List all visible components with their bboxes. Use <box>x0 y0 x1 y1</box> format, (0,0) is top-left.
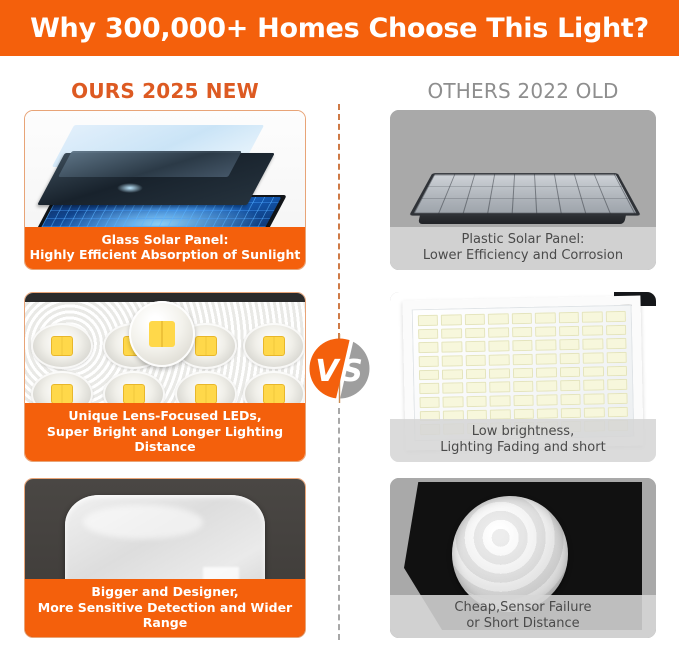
caption-line-2: Super Bright and Longer Lighting Distanc… <box>29 424 301 455</box>
caption-line-2: Lighting Fading and short <box>394 440 652 456</box>
cell-sheen-icon <box>58 151 242 177</box>
page-title: Why 300,000+ Homes Choose This Light? <box>30 13 649 44</box>
card-ours-motion-sensor: Bigger and Designer, More Sensitive Dete… <box>24 478 306 638</box>
caption-line-2: Lower Efficiency and Corrosion <box>394 248 652 264</box>
caption-others-solar-panel: Plastic Solar Panel: Lower Efficiency an… <box>390 227 656 271</box>
caption-others-motion-sensor: Cheap,Sensor Failure or Short Distance <box>390 595 656 639</box>
header-bar: Why 300,000+ Homes Choose This Light? <box>0 0 679 56</box>
caption-line-1: Plastic Solar Panel: <box>394 232 652 248</box>
panel-surface-icon <box>409 173 641 215</box>
vs-badge-icon: V S <box>305 334 374 403</box>
caption-line-1: Glass Solar Panel: <box>29 232 301 248</box>
caption-line-1: Unique Lens-Focused LEDs, <box>29 408 301 424</box>
divider-line-top <box>338 104 342 339</box>
divider-line-bottom <box>338 408 342 640</box>
card-others-solar-panel: Plastic Solar Panel: Lower Efficiency an… <box>390 110 656 270</box>
card-others-led-array: Low brightness, Lighting Fading and shor… <box>390 292 656 462</box>
caption-line-2: Highly Efficient Absorption of Sunlight <box>29 247 301 263</box>
smd-led-grid-icon <box>418 311 628 435</box>
column-header-others: OTHERS 2022 OLD <box>390 78 656 104</box>
badge-letter-v: V <box>315 354 341 389</box>
lens-highlight-icon <box>83 505 203 539</box>
focused-lens-dome-icon <box>129 301 195 367</box>
led-lens-icon <box>243 323 305 369</box>
card-ours-solar-panel: Glass Solar Panel: Highly Efficient Abso… <box>24 110 306 270</box>
card-ours-led-array: Unique Lens-Focused LEDs, Super Bright a… <box>24 292 306 462</box>
caption-line-1: Low brightness, <box>394 424 652 440</box>
card-others-motion-sensor: Cheap,Sensor Failure or Short Distance <box>390 478 656 638</box>
badge-letter-s: S <box>341 354 363 389</box>
caption-ours-led-array: Unique Lens-Focused LEDs, Super Bright a… <box>25 403 305 461</box>
caption-line-2: More Sensitive Detection and Wider Range <box>29 600 301 631</box>
light-glow-icon <box>117 183 143 193</box>
caption-ours-solar-panel: Glass Solar Panel: Highly Efficient Abso… <box>25 227 305 269</box>
led-lens-icon <box>31 323 93 369</box>
caption-line-1: Bigger and Designer, <box>29 584 301 600</box>
solar-cell-layer-icon <box>37 153 275 205</box>
caption-line-2: or Short Distance <box>394 616 652 632</box>
caption-line-1: Cheap,Sensor Failure <box>394 600 652 616</box>
caption-others-led-array: Low brightness, Lighting Fading and shor… <box>390 419 656 463</box>
caption-ours-motion-sensor: Bigger and Designer, More Sensitive Dete… <box>25 579 305 637</box>
column-header-ours: OURS 2025 NEW <box>24 78 306 104</box>
